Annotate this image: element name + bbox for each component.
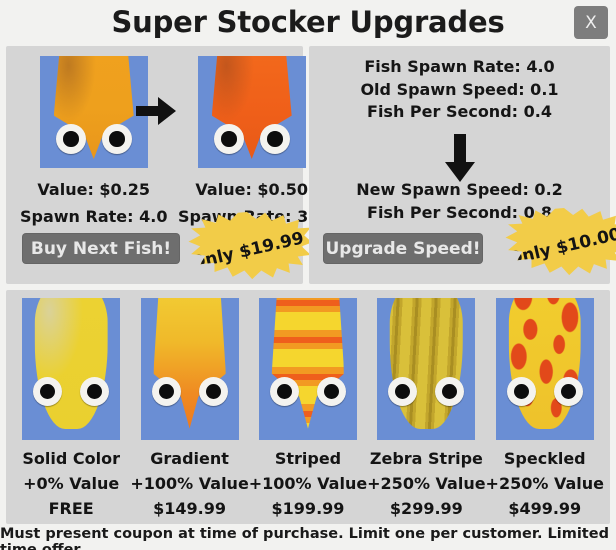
fish-eye-right	[554, 377, 583, 406]
fish-eye-right	[80, 377, 109, 406]
variant-name: Solid Color	[22, 449, 120, 468]
variant-price: $149.99	[153, 499, 226, 518]
fish-eye-right	[435, 377, 464, 406]
speed-upgrade-panel: Fish Spawn Rate: 4.0 Old Spawn Speed: 0.…	[309, 46, 610, 284]
upgrades-dialog: Super Stocker Upgrades X Value: $0.25 Sp…	[0, 0, 616, 550]
current-fish-value: Value: $0.25	[37, 180, 150, 199]
disclaimer-footer: Must present coupon at time of purchase.…	[0, 524, 616, 550]
fish-variants-panel: Solid Color +0% Value FREE Gradient +100…	[6, 290, 610, 524]
variant-value: +250% Value	[367, 474, 485, 493]
arrow-down-icon	[443, 134, 477, 182]
fish-eye-left	[152, 377, 181, 406]
variant-sprite	[141, 298, 239, 440]
arrow-right-icon	[136, 94, 176, 128]
fish-body	[153, 298, 226, 429]
current-fish-card: Value: $0.25 Spawn Rate: 4.0	[20, 56, 167, 226]
fish-body	[35, 298, 108, 429]
variant-name: Speckled	[504, 449, 586, 468]
current-fish-sprite	[40, 56, 148, 168]
variant-price: $499.99	[508, 499, 581, 518]
fish-eye-left	[507, 377, 536, 406]
disclaimer-text: Must present coupon at time of purchase.…	[0, 526, 616, 550]
fish-body	[508, 298, 581, 429]
fish-eye-right	[102, 124, 132, 154]
current-fish-spawn-rate: Spawn Rate: 4.0	[20, 207, 167, 226]
variant-value: +0% Value	[23, 474, 119, 493]
speed-price-badge-text: Only $10.00	[506, 224, 616, 269]
fish-eye-right	[317, 377, 346, 406]
variant-price: $199.99	[272, 499, 345, 518]
stat-fish-per-second-old: Fish Per Second: 0.4	[309, 101, 610, 124]
fish-eye-left	[270, 377, 299, 406]
variant-name: Zebra Stripe	[370, 449, 483, 468]
fish-eye-right	[260, 124, 290, 154]
variant-sprite	[259, 298, 357, 440]
variant-gradient[interactable]: Gradient +100% Value $149.99	[134, 298, 246, 518]
variant-speckled[interactable]: Speckled +250% Value $499.99	[489, 298, 601, 518]
fish-eye-left	[33, 377, 62, 406]
next-fish-value: Value: $0.50	[195, 180, 308, 199]
variant-price: $299.99	[390, 499, 463, 518]
variant-sprite	[22, 298, 120, 440]
variant-price: FREE	[49, 499, 94, 518]
stat-old-spawn-speed: Old Spawn Speed: 0.1	[309, 79, 610, 102]
variant-sprite	[496, 298, 594, 440]
variant-value: +250% Value	[486, 474, 604, 493]
variant-name: Gradient	[150, 449, 229, 468]
upgrade-speed-button[interactable]: Upgrade Speed!	[323, 233, 483, 264]
variant-solid-color[interactable]: Solid Color +0% Value FREE	[15, 298, 127, 518]
fish-upgrade-panel: Value: $0.25 Spawn Rate: 4.0 Value: $0.5…	[6, 46, 303, 284]
close-icon[interactable]: X	[574, 6, 608, 39]
next-fish-sprite	[198, 56, 306, 168]
upgrade-panels-row: Value: $0.25 Spawn Rate: 4.0 Value: $0.5…	[0, 46, 616, 284]
variant-value: +100% Value	[130, 474, 248, 493]
variant-zebra-stripe[interactable]: Zebra Stripe +250% Value $299.99	[370, 298, 482, 518]
variant-striped[interactable]: Striped +100% Value $199.99	[252, 298, 364, 518]
fish-body	[390, 298, 463, 429]
fish-eye-left	[214, 124, 244, 154]
dialog-titlebar: Super Stocker Upgrades X	[0, 0, 616, 46]
buy-next-fish-button[interactable]: Buy Next Fish!	[22, 233, 180, 264]
fish-eye-right	[199, 377, 228, 406]
speed-stats-before: Fish Spawn Rate: 4.0 Old Spawn Speed: 0.…	[309, 56, 610, 124]
fish-body	[272, 298, 345, 429]
next-fish-card: Value: $0.50 Spawn Rate: 3.0	[178, 56, 325, 226]
page-title: Super Stocker Upgrades	[111, 8, 504, 39]
variant-sprite	[377, 298, 475, 440]
fish-price-badge-text: Only $19.99	[189, 228, 306, 273]
stat-fish-spawn-rate: Fish Spawn Rate: 4.0	[309, 56, 610, 79]
variant-name: Striped	[275, 449, 341, 468]
variant-value: +100% Value	[249, 474, 367, 493]
fish-eye-left	[56, 124, 86, 154]
stat-new-spawn-speed: New Spawn Speed: 0.2	[309, 179, 610, 202]
